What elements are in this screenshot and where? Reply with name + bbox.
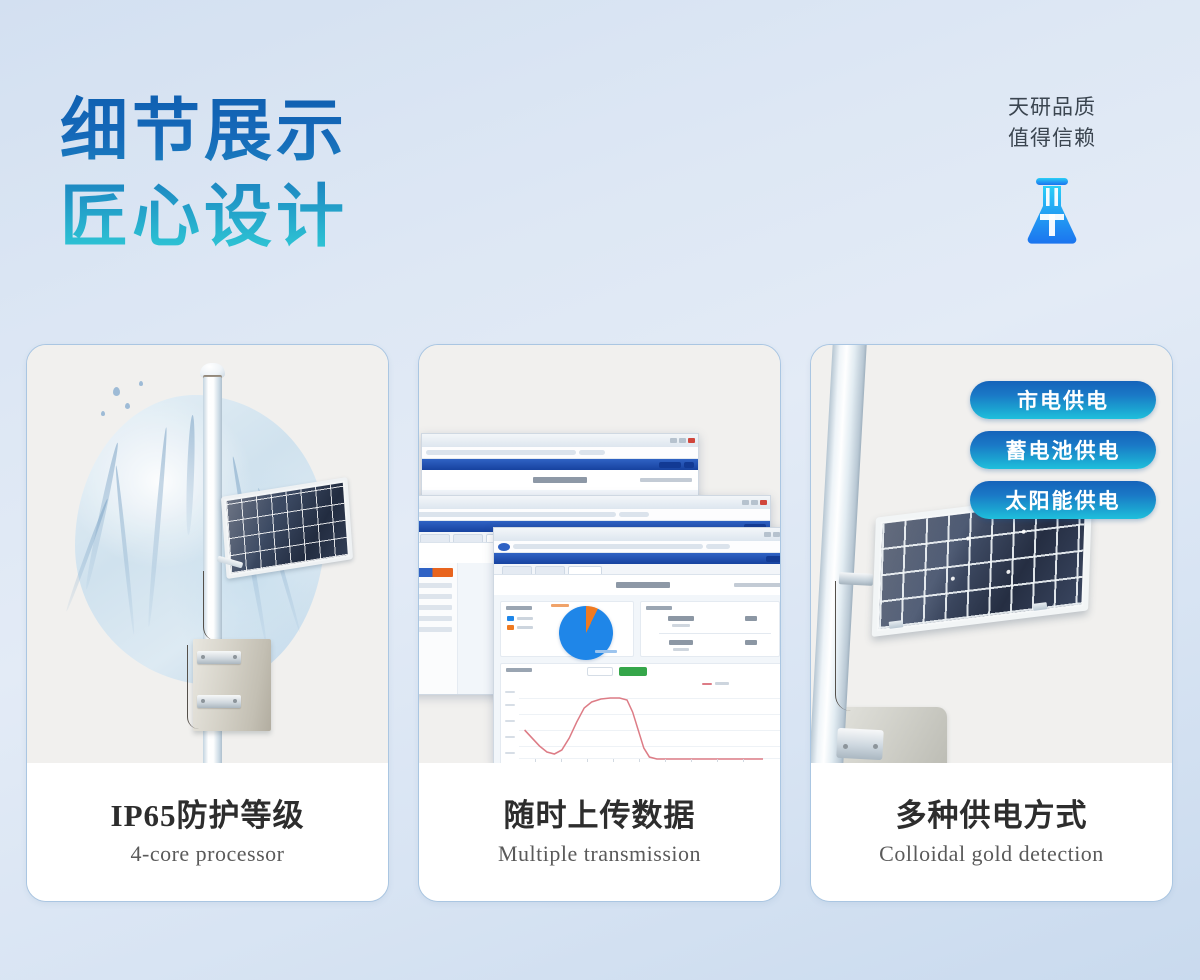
water-droplet [139,381,143,386]
flask-icon [1018,176,1086,248]
window-page-header [494,575,780,595]
feature-card-power[interactable]: 市电供电 蓄电池供电 太阳能供电 多种供电方式 Colloidal gold d… [810,344,1173,902]
card-caption: 多种供电方式 Colloidal gold detection [811,763,1172,901]
minimize-icon [742,500,749,505]
card-subtitle: 4-core processor [131,843,285,865]
window-tabstrip[interactable] [494,564,780,575]
window-page-header [422,470,698,490]
feature-card-ip65[interactable]: IP65防护等级 4-core processor [26,344,389,902]
bracket-bolt [201,655,205,659]
browser-window-front [493,527,780,765]
card-title: IP65防护等级 [111,800,305,831]
card-caption: IP65防护等级 4-core processor [27,763,388,901]
minimize-icon [764,532,771,537]
brand-block: 天研品质 值得信赖 [962,92,1142,248]
window-urlbar [494,541,780,553]
sidebar-item[interactable] [419,594,452,599]
bracket-bolt [233,655,237,659]
sidebar-item[interactable] [419,583,452,588]
maximize-icon [679,438,686,443]
legend-swatch [507,625,514,630]
window-navband [494,553,780,564]
clamp-bolt [873,744,878,749]
water-droplet [113,387,120,396]
feature-card-list: IP65防护等级 4-core processor [26,344,1174,902]
water-droplet [125,403,130,409]
bracket-bolt [233,699,237,703]
card-title: 多种供电方式 [896,800,1088,831]
card-caption: 随时上传数据 Multiple transmission [419,763,780,901]
bracket-bolt [201,699,205,703]
card-subtitle: Multiple transmission [498,843,701,865]
solar-panel-pole-photo: 市电供电 蓄电池供电 太阳能供电 [811,345,1172,765]
feature-card-upload[interactable]: 随时上传数据 Multiple transmission [418,344,781,902]
dashboard-body [494,595,780,765]
window-titlebar [422,434,698,447]
page-title: 细节展示 匠心设计 [60,88,348,260]
minimize-icon [670,438,677,443]
power-mode-pill-list: 市电供电 蓄电池供电 太阳能供电 [970,381,1156,519]
card-subtitle: Colloidal gold detection [879,843,1104,865]
dashboard-content [494,595,780,765]
pie-chart-panel [500,601,634,657]
sidebar-item[interactable] [419,616,452,621]
window-urlbar [422,447,698,459]
brand-slogan: 天研品质 值得信赖 [962,92,1142,154]
legend-swatch [507,616,514,621]
water-droplet [101,411,105,416]
maximize-icon [773,532,780,537]
clamp-bolt [843,744,848,749]
power-mode-pill-solar[interactable]: 太阳能供电 [970,481,1156,519]
dashboard-windows-photo [419,345,780,765]
kpi-panel [640,601,780,657]
window-navband [422,459,698,470]
page-header: 细节展示 匠心设计 天研品质 值得信赖 [0,0,1200,330]
sidebar-item[interactable] [419,627,452,632]
sidebar-nav[interactable] [419,563,458,695]
close-icon [760,500,767,505]
line-chart-panel [500,663,780,765]
window-urlbar [419,509,770,521]
line-chart-series [519,664,763,765]
power-cable [835,581,851,711]
sidebar-logo-icon [419,568,453,577]
sidebar-item[interactable] [419,605,452,610]
power-mode-pill-battery[interactable]: 蓄电池供电 [970,431,1156,469]
close-icon [688,438,695,443]
maximize-icon [751,500,758,505]
window-titlebar [494,528,780,541]
card-title: 随时上传数据 [504,800,696,831]
waterproof-pole-splash-photo [27,345,388,765]
power-cable [203,571,217,641]
window-titlebar [419,496,770,509]
enclosure-cable [187,645,199,729]
power-mode-pill-mains[interactable]: 市电供电 [970,381,1156,419]
